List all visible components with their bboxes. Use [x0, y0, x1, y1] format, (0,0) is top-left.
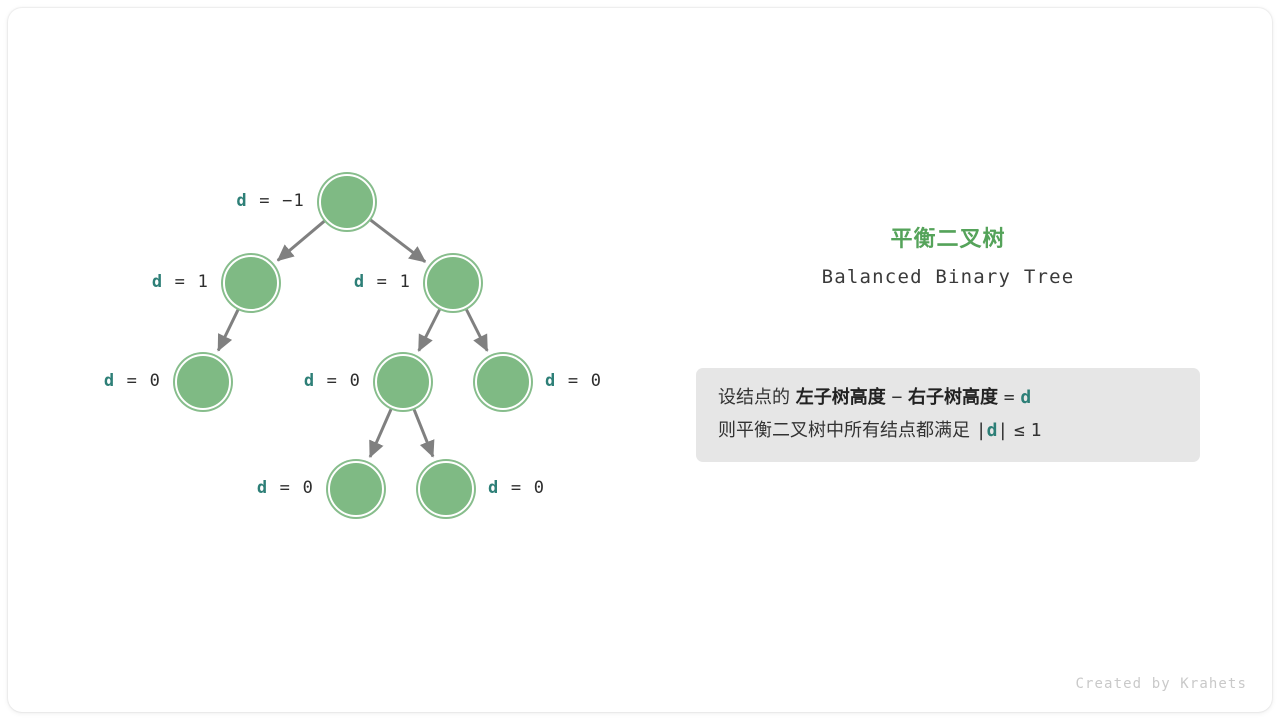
condition-prefix: 则平衡二叉树中所有结点都满足: [718, 420, 970, 441]
tree-edge: [369, 219, 425, 262]
node-label-var: d: [104, 371, 115, 391]
minus-sign: −: [891, 387, 902, 408]
abs-bar-close: |: [997, 420, 1008, 441]
node-label-equals: =: [365, 272, 399, 292]
info-panel: 平衡二叉树 Balanced Binary Tree: [696, 225, 1200, 288]
credit-text: Created by Krahets: [1075, 676, 1247, 692]
node-label-equals: =: [268, 478, 302, 498]
definition-prefix: 设结点的: [718, 387, 790, 408]
node-label-var: d: [257, 478, 268, 498]
node-label-equals: =: [315, 371, 349, 391]
page-subtitle: Balanced Binary Tree: [696, 266, 1200, 288]
node-label-value: 0: [150, 371, 161, 391]
page-title: 平衡二叉树: [696, 225, 1200, 255]
tree-edge: [466, 308, 488, 351]
node-label-root: d = −1: [236, 193, 305, 210]
node-label-n-l: d = 1: [152, 274, 209, 291]
node-label-equals: =: [248, 191, 282, 211]
node-label-var: d: [545, 371, 556, 391]
definition-line-1: 设结点的 左子树高度 − 右子树高度 = d: [718, 384, 1178, 412]
node-label-equals: =: [556, 371, 590, 391]
tree-node-n-l: [223, 255, 279, 311]
tree-edge: [218, 308, 239, 350]
node-label-n-rll: d = 0: [257, 480, 314, 497]
tree-node-n-rll: [328, 461, 384, 517]
comparator-sign: ≤: [1014, 420, 1025, 441]
node-label-value: 0: [350, 371, 361, 391]
variable-d: d: [1020, 387, 1031, 408]
node-label-value: 0: [534, 478, 545, 498]
node-label-n-rlr: d = 0: [488, 480, 545, 497]
tree-edge: [370, 408, 392, 457]
term-right-subtree-height: 右子树高度: [908, 387, 998, 408]
tree-edge: [413, 408, 433, 457]
tree-node-n-rlr: [418, 461, 474, 517]
tree-edge: [278, 220, 326, 260]
abs-bar-open: |: [976, 420, 987, 441]
variable-d-abs: d: [987, 420, 998, 441]
node-label-n-rl: d = 0: [304, 373, 361, 390]
tree-node-n-rr: [475, 354, 531, 410]
node-label-equals: =: [163, 272, 197, 292]
node-label-value: 0: [303, 478, 314, 498]
node-label-value: −1: [282, 191, 305, 211]
tree-node-n-ll: [175, 354, 231, 410]
node-label-n-rr: d = 0: [545, 373, 602, 390]
node-label-n-r: d = 1: [354, 274, 411, 291]
tree-node-root: [319, 174, 375, 230]
node-label-value: 1: [400, 272, 411, 292]
tree-node-n-rl: [375, 354, 431, 410]
node-label-var: d: [304, 371, 315, 391]
node-label-n-ll: d = 0: [104, 373, 161, 390]
definition-box: 设结点的 左子树高度 − 右子树高度 = d 则平衡二叉树中所有结点都满足 |d…: [696, 368, 1200, 462]
node-label-var: d: [236, 191, 247, 211]
tree-edge: [419, 308, 441, 351]
node-label-value: 1: [198, 272, 209, 292]
equals-sign: =: [1004, 387, 1015, 408]
node-label-equals: =: [115, 371, 149, 391]
node-label-value: 0: [591, 371, 602, 391]
term-left-subtree-height: 左子树高度: [796, 387, 886, 408]
node-label-var: d: [488, 478, 499, 498]
tree-node-n-r: [425, 255, 481, 311]
node-label-var: d: [152, 272, 163, 292]
condition-value: 1: [1031, 420, 1042, 441]
node-label-equals: =: [499, 478, 533, 498]
node-label-var: d: [354, 272, 365, 292]
definition-line-2: 则平衡二叉树中所有结点都满足 |d| ≤ 1: [718, 417, 1178, 445]
